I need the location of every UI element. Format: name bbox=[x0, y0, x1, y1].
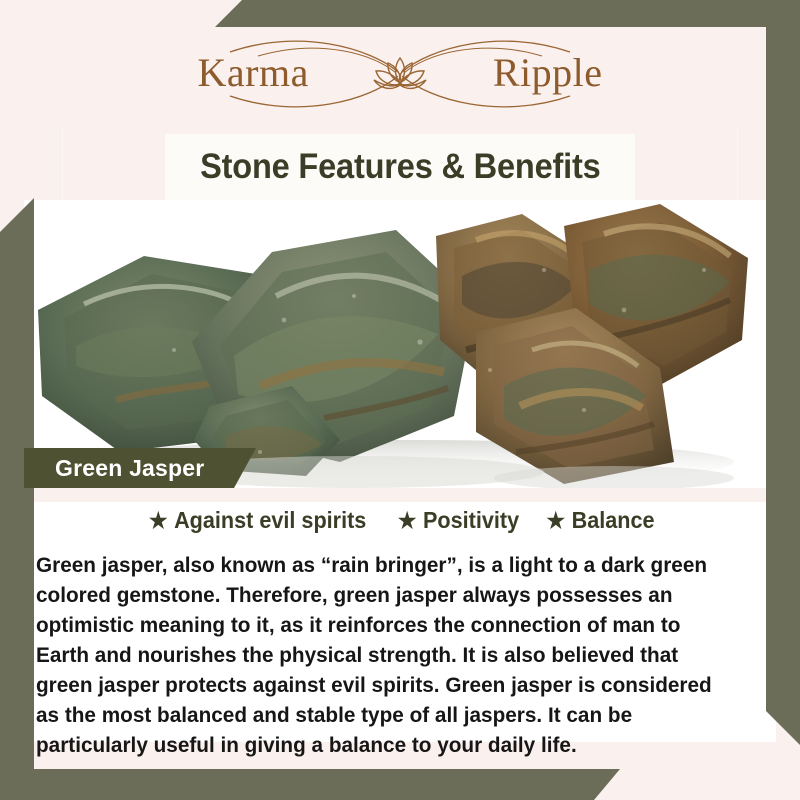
benefit-item: ★ Positivity bbox=[398, 507, 519, 534]
title-banner: Stone Features & Benefits bbox=[165, 134, 635, 200]
frame-top-right bbox=[215, 0, 800, 27]
star-icon: ★ bbox=[546, 510, 565, 532]
frame-left bbox=[0, 198, 34, 800]
benefit-label: Positivity bbox=[423, 507, 519, 534]
benefit-label: Against evil spirits bbox=[174, 507, 366, 534]
divider-strip bbox=[24, 488, 776, 502]
description-text: Green jasper, also known as “rain bringe… bbox=[36, 550, 739, 760]
promo-card: Karma Ripple Stone Features & Benefits bbox=[0, 0, 800, 800]
star-icon: ★ bbox=[149, 510, 168, 532]
page-title: Stone Features & Benefits bbox=[200, 147, 601, 187]
benefit-item: ★ Balance bbox=[546, 507, 654, 534]
brand-name-right: Ripple bbox=[493, 53, 603, 93]
gemstone-photo-illustration bbox=[24, 200, 776, 488]
frame-bottom-left bbox=[0, 769, 620, 800]
stone-name-tag: Green Jasper bbox=[24, 448, 256, 488]
stone-photo bbox=[24, 200, 776, 488]
brand-name-left: Karma bbox=[198, 53, 309, 93]
benefit-item: ★ Against evil spirits bbox=[149, 507, 366, 534]
benefits-list: ★ Against evil spirits ★ Positivity ★ Ba… bbox=[24, 507, 776, 534]
brand-logo: Karma Ripple bbox=[170, 34, 630, 112]
stone-name-label: Green Jasper bbox=[55, 455, 204, 482]
frame-right bbox=[766, 0, 800, 745]
description-card: ★ Against evil spirits ★ Positivity ★ Ba… bbox=[24, 488, 776, 742]
star-icon: ★ bbox=[398, 510, 417, 532]
benefit-label: Balance bbox=[571, 507, 654, 534]
